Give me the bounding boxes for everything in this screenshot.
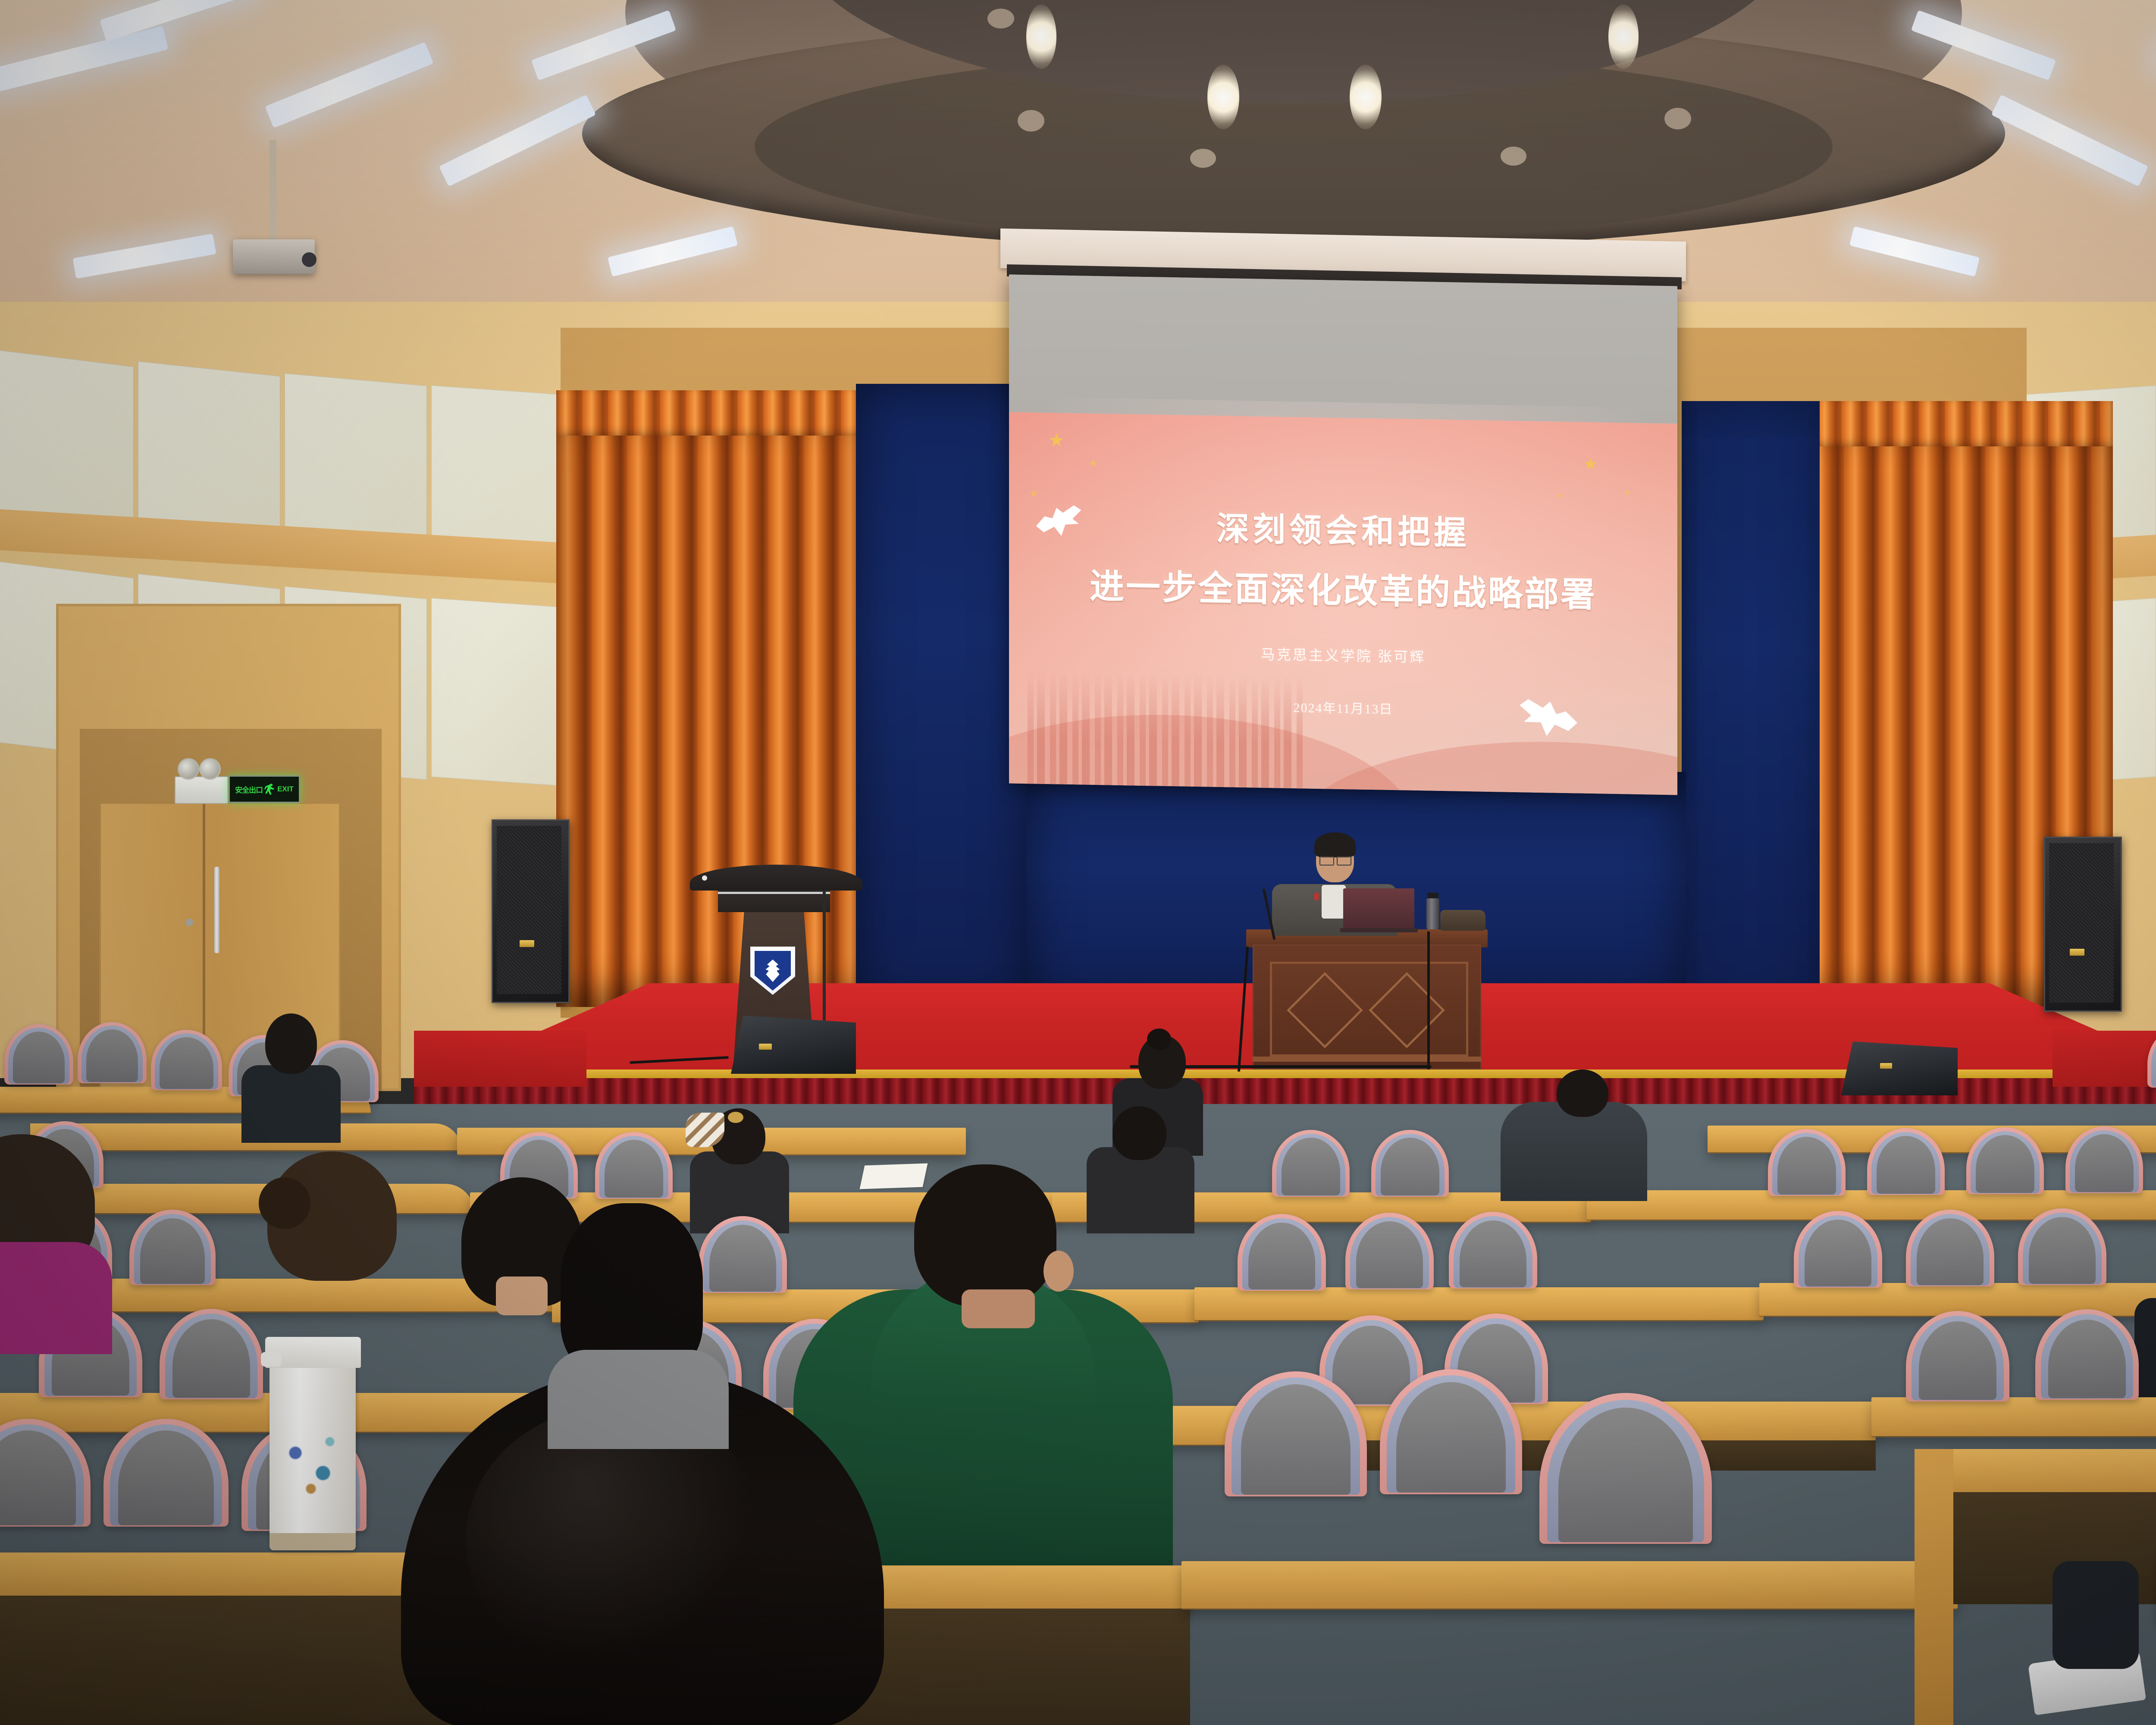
stage-backdrop-right <box>1682 401 1820 1009</box>
water-bottle <box>1426 898 1439 929</box>
emergency-bulb-left-b <box>199 758 221 780</box>
curtain-left <box>556 436 867 1007</box>
projection-screen: 深刻领会和把握 进一步全面深化改革的战略部署 马克思主义学院 张可辉 2024年… <box>1009 274 1677 795</box>
projector-mount-left <box>269 140 276 244</box>
door-knob-left[interactable] <box>185 919 193 926</box>
person-b-head <box>265 1013 317 1074</box>
person-hoodie-head <box>914 1164 1056 1307</box>
exit-sign-left-cn: 安全出口 <box>235 784 263 795</box>
tower-speaker-left-badge <box>520 940 534 947</box>
tower-speaker-right-grille <box>2049 843 2114 1003</box>
stage-monitor-left-badge <box>759 1044 772 1050</box>
lectern-crest-leaf-icon <box>763 960 783 982</box>
desk-front-right <box>1181 1561 1958 1609</box>
exit-sign-left-en: EXIT <box>277 785 294 793</box>
person-k-torso <box>548 1350 729 1449</box>
door-handle-left[interactable] <box>214 867 219 953</box>
person-c-head <box>1557 1069 1608 1117</box>
downlight-3 <box>1350 65 1382 129</box>
speaker-glasses-right <box>1337 856 1351 866</box>
downlight-1 <box>1026 4 1056 69</box>
person-i-bun <box>259 1177 310 1229</box>
downlight-6-off <box>1190 149 1216 168</box>
desk-row-d-right <box>1871 1397 2156 1436</box>
person-b-torso <box>241 1065 341 1143</box>
person-e-head <box>1112 1106 1166 1160</box>
downlight-4 <box>1608 4 1639 69</box>
person-j-neck <box>496 1276 548 1315</box>
handout-sheet[interactable] <box>860 1163 928 1189</box>
person-e-torso <box>1087 1147 1194 1233</box>
city-skyline-decor <box>1022 671 1303 788</box>
speaker-laptop[interactable] <box>1343 888 1414 931</box>
tower-speaker-left-grille <box>497 826 561 994</box>
floral-travel-tumbler[interactable] <box>269 1361 356 1550</box>
downlight-9-off <box>987 9 1014 28</box>
speaker-laptop-base <box>1340 928 1418 932</box>
downlight-5-off <box>1018 110 1044 132</box>
wall-panel <box>138 361 280 545</box>
speaker-glasses-left <box>1319 856 1334 866</box>
stage-backdrop-left <box>856 384 1028 1009</box>
tumbler-lid-tab[interactable] <box>261 1352 282 1367</box>
exit-sign-left: 安全出口 EXIT <box>229 775 300 803</box>
desk-bag <box>1440 910 1485 931</box>
downlight-7-off <box>1501 147 1526 166</box>
speaker-lapel-mic <box>1314 893 1319 900</box>
emergency-bulb-left-a <box>178 758 199 780</box>
person-hoodie-ear <box>1044 1251 1074 1292</box>
person-c-torso <box>1501 1102 1647 1201</box>
wall-panel <box>0 349 134 535</box>
lectern-indicator-light <box>702 875 707 881</box>
person-h-leg <box>2053 1561 2139 1669</box>
desk-front-far-right <box>1940 1449 2156 1496</box>
person-a-ponytail <box>1147 1029 1171 1050</box>
desk-cable-right <box>1427 931 1430 1069</box>
stage-riser-right <box>2053 1031 2156 1087</box>
lectern-accent-line <box>718 892 830 894</box>
speaker-hair <box>1314 832 1356 857</box>
wall-panel <box>431 385 573 561</box>
curtain-valance-left <box>556 390 867 440</box>
tower-speaker-right-badge <box>2070 949 2084 956</box>
running-man-icon <box>264 784 276 795</box>
stage-monitor-right-badge <box>1880 1063 1892 1069</box>
stage-monitor-right <box>1841 1041 1958 1095</box>
stage-riser-left <box>414 1031 586 1087</box>
desk-row-c-center2 <box>1194 1287 1764 1320</box>
downlight-2 <box>1207 65 1239 129</box>
auditorium-photo: 安全出口 EXIT 安全出口 EXIT <box>0 0 2156 1725</box>
tumbler-floral-art <box>269 1408 356 1520</box>
emergency-light-left <box>175 776 228 804</box>
water-bottle-cap <box>1427 893 1438 899</box>
lecture-desk-base-trim <box>1253 1057 1481 1062</box>
person-hoodie-neck <box>962 1289 1035 1328</box>
person-d-hairtie <box>728 1112 743 1123</box>
projector-lens-left <box>302 252 317 267</box>
tumbler-base-ring <box>269 1533 356 1550</box>
stage-monitor-left <box>731 1016 856 1074</box>
speaker-shirt <box>1322 885 1346 919</box>
wall-panel <box>285 373 427 554</box>
person-d-headband <box>686 1113 724 1147</box>
desk-front-right-side-panel <box>1915 1449 1953 1725</box>
person-left-edge-torso <box>0 1242 112 1354</box>
wall-panel <box>431 598 573 787</box>
downlight-8-off <box>1664 108 1691 129</box>
